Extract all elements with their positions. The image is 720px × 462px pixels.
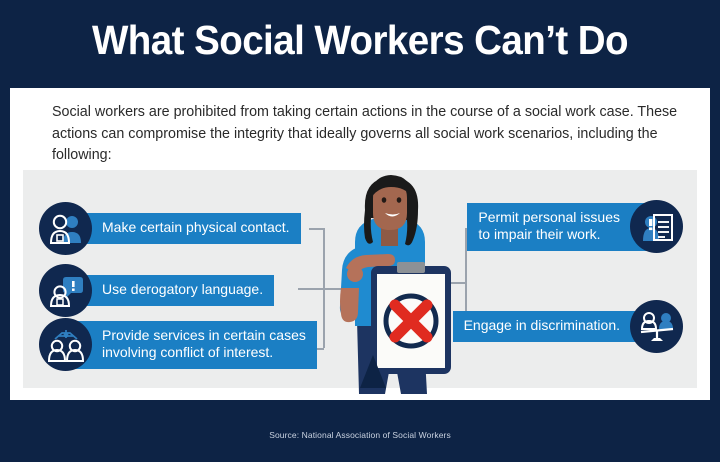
diagram-panel: Make certain physical contact. (23, 170, 697, 388)
infographic-root: What Social Workers Can’t Do Social work… (0, 0, 720, 462)
list-item-label: Provide services in certain cases involv… (72, 321, 317, 369)
list-item-label: Permit personal issues to impair their w… (467, 203, 650, 251)
list-item-conflict-of-interest[interactable]: Provide services in certain cases involv… (39, 318, 317, 371)
content-card: Social workers are prohibited from takin… (10, 88, 710, 400)
list-item-make-certain-physical-contact[interactable]: Make certain physical contact. (39, 202, 301, 255)
social-worker-illustration (329, 170, 451, 394)
connector-left-branch-1 (309, 228, 324, 230)
panel-notch (360, 355, 386, 388)
list-item-engage-in-discrimination[interactable]: Engage in discrimination. (453, 300, 683, 353)
two-people-icon (39, 202, 92, 255)
list-item-permit-personal-issues[interactable]: Permit personal issues to impair their w… (467, 200, 683, 253)
list-item-label: Make certain physical contact. (72, 213, 301, 244)
list-item-label: Engage in discrimination. (453, 311, 650, 342)
document-person-icon (630, 200, 683, 253)
page-title: What Social Workers Can’t Do (22, 17, 699, 64)
list-item-use-derogatory-language[interactable]: Use derogatory language. (39, 264, 274, 317)
connector-left-branch-2 (298, 288, 324, 290)
source-credit: Source: National Association of Social W… (0, 430, 720, 440)
person-speech-bubble-icon (39, 264, 92, 317)
list-item-label: Use derogatory language. (72, 275, 274, 306)
intro-paragraph: Social workers are prohibited from takin… (52, 102, 680, 167)
unbalanced-scale-people-icon (630, 300, 683, 353)
two-people-handshake-icon (39, 318, 92, 371)
